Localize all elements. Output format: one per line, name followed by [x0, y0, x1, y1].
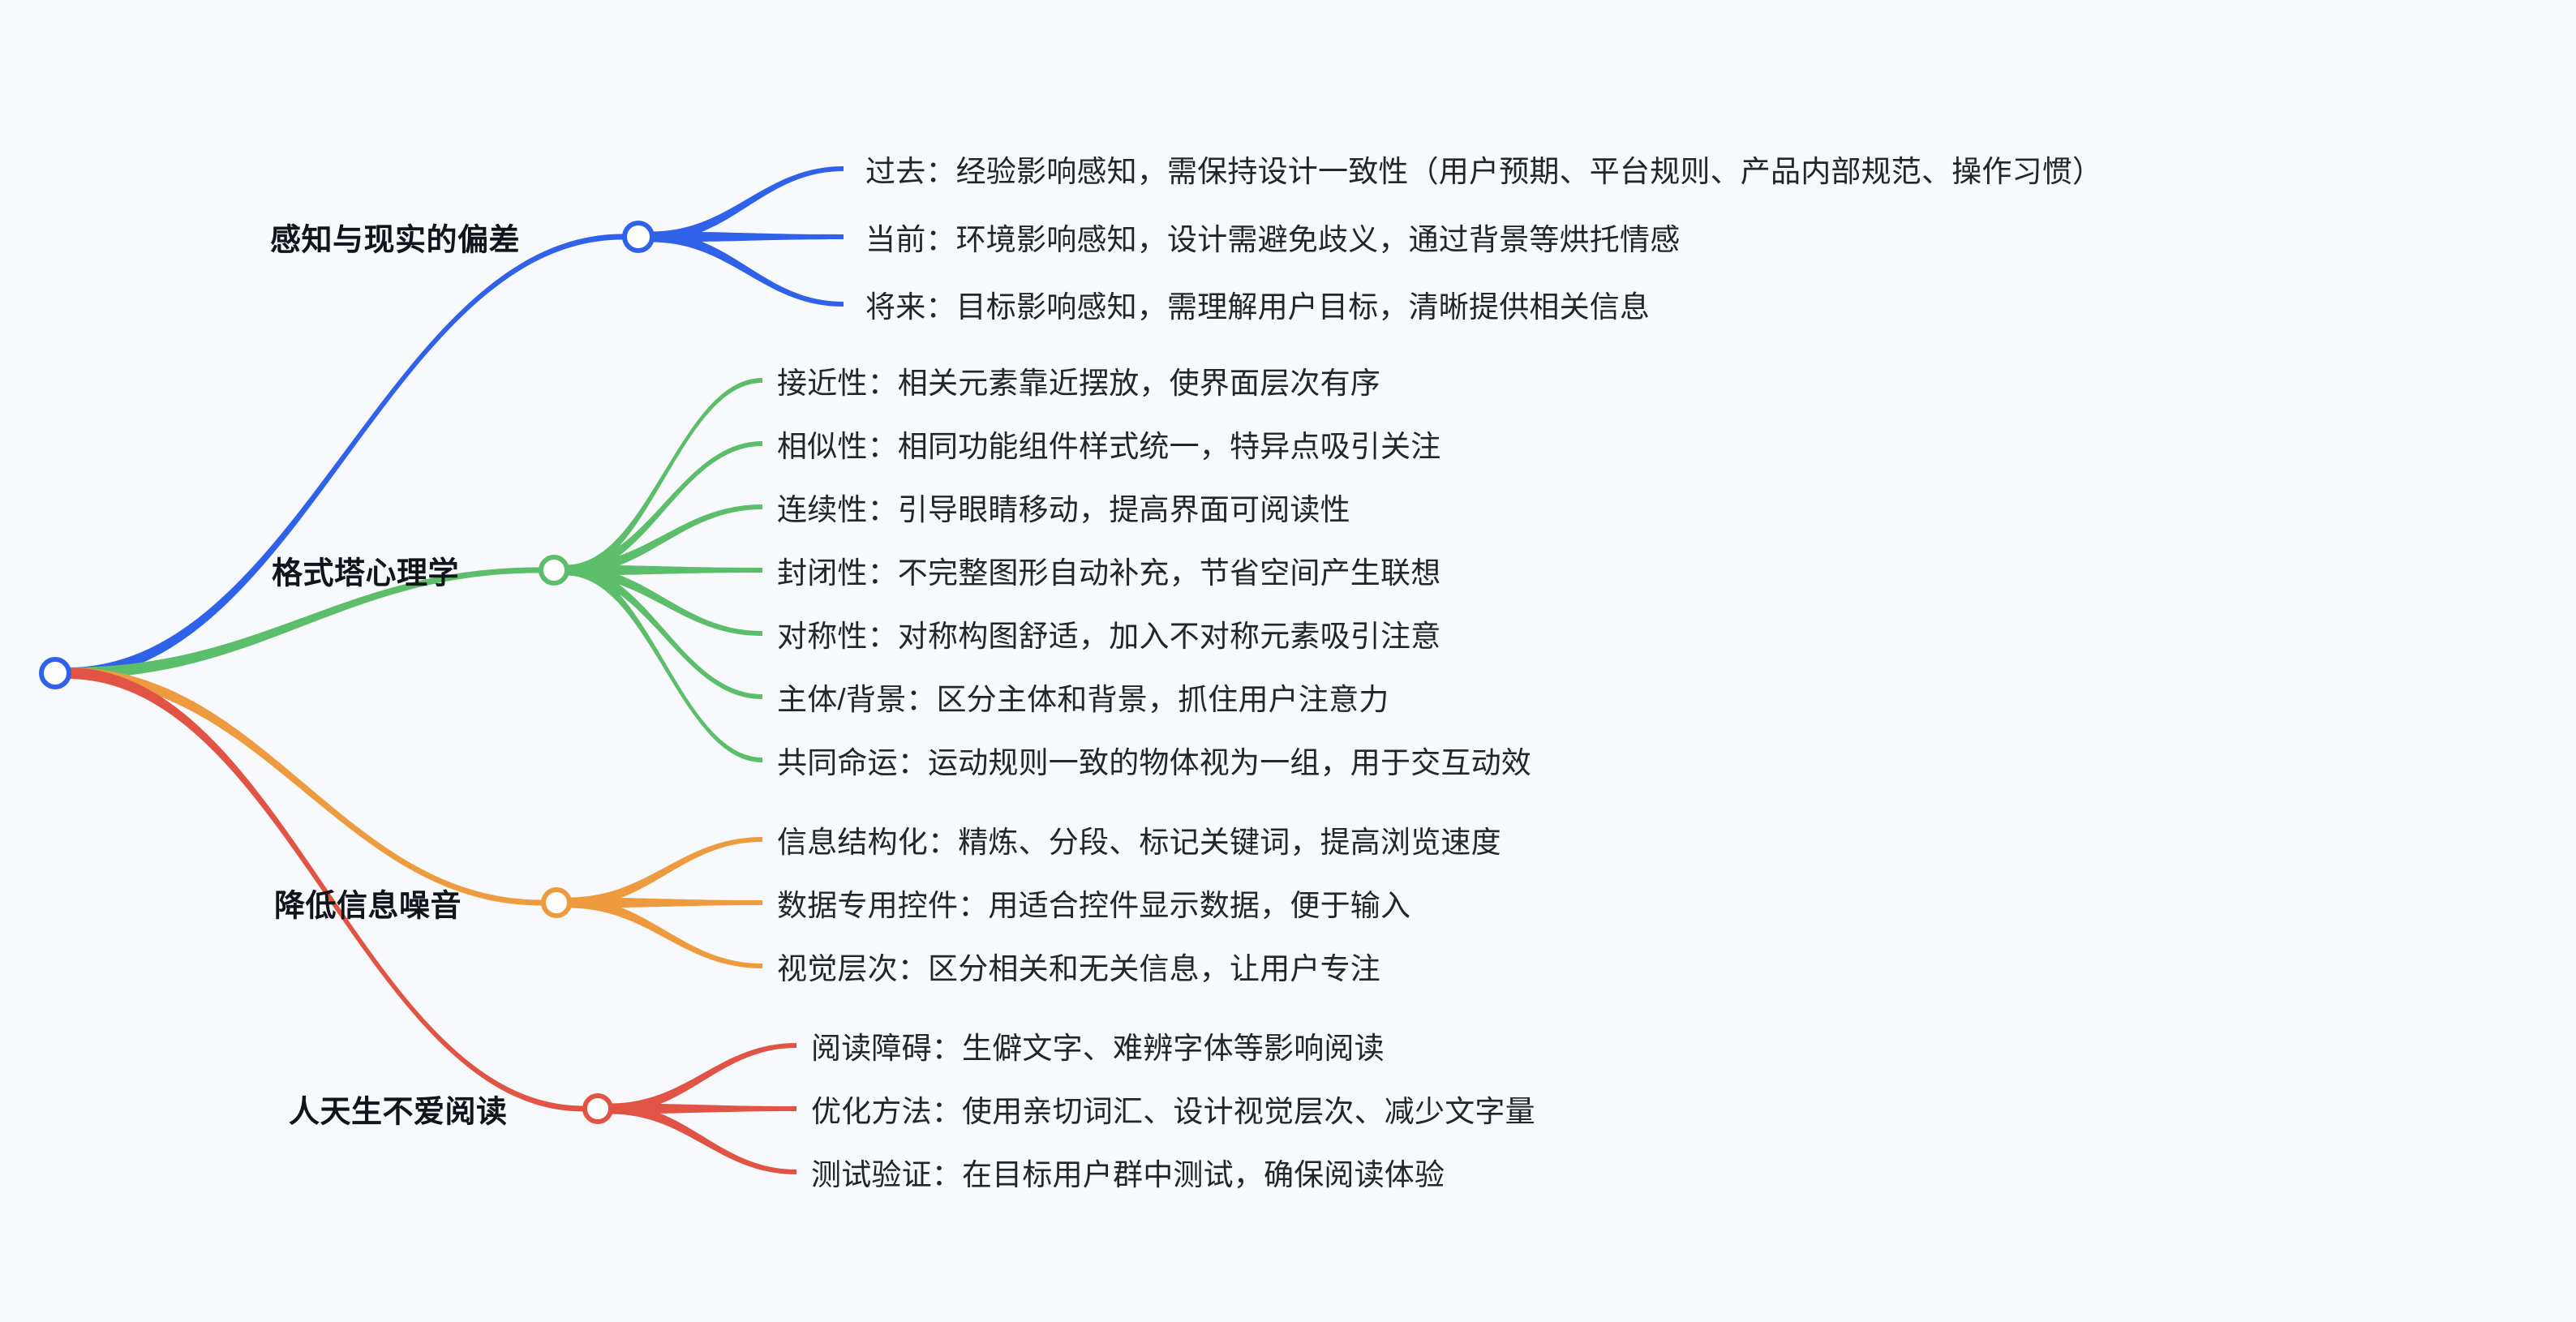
leaf-label-common-fate[interactable]: 共同命运：运动规则一致的物体视为一组，用于交互动效	[777, 738, 1531, 782]
branch-label-people-dislike-reading[interactable]: 人天生不爱阅读	[289, 1087, 508, 1131]
leaf-label-symmetry[interactable]: 对称性：对称构图舒适，加入不对称元素吸引注意	[777, 612, 1440, 655]
leaf-connector-past	[651, 166, 844, 243]
leaf-connector-proximity	[566, 378, 762, 576]
leaf-connector-structured-information	[569, 837, 762, 908]
leaf-connector-continuity	[566, 504, 762, 576]
leaf-label-data-specific-controls[interactable]: 数据专用控件：用适合控件显示数据，便于输入	[777, 881, 1410, 925]
branch-node-people-dislike-reading[interactable]	[585, 1096, 611, 1122]
leaf-connector-reading-obstacles	[610, 1043, 796, 1114]
branch-label-gestalt-psychology[interactable]: 格式塔心理学	[272, 548, 459, 593]
leaf-connector-common-fate	[566, 565, 762, 763]
branch-connector-reduce-information-noise	[67, 667, 542, 906]
leaf-label-present[interactable]: 当前：环境影响感知，设计需避免歧义，通过背景等烘托情感	[865, 215, 1680, 259]
branch-group-perception-reality-gap	[67, 234, 623, 680]
leaf-label-similarity[interactable]: 相似性：相同功能组件样式统一，特异点吸引关注	[777, 422, 1440, 466]
leaf-label-test-validation[interactable]: 测试验证：在目标用户群中测试，确保阅读体验	[811, 1150, 1445, 1194]
branch-group-reduce-information-noise	[67, 667, 542, 906]
leaf-label-proximity[interactable]: 接近性：相关元素靠近摆放，使界面层次有序	[777, 358, 1380, 402]
branch-node-reduce-information-noise[interactable]	[543, 890, 569, 916]
branch-label-reduce-information-noise[interactable]: 降低信息噪音	[274, 881, 462, 925]
leaf-connector-visual-hierarchy	[569, 898, 762, 969]
branch-connector-perception-reality-gap	[67, 234, 623, 680]
leaf-label-visual-hierarchy[interactable]: 视觉层次：区分相关和无关信息，让用户专注	[777, 944, 1380, 988]
branch-node-gestalt-psychology[interactable]	[541, 557, 567, 583]
mindmap-canvas: 感知与现实的偏差过去：经验影响感知，需保持设计一致性（用户预期、平台规则、产品内…	[0, 0, 2576, 1322]
leaf-label-future[interactable]: 将来：目标影响感知，需理解用户目标，清晰提供相关信息	[865, 282, 1650, 326]
leaf-label-reading-obstacles[interactable]: 阅读障碍：生僻文字、难辨字体等影响阅读	[811, 1024, 1385, 1067]
leaf-label-closure[interactable]: 封闭性：不完整图形自动补充，节省空间产生联想	[777, 548, 1440, 592]
leaf-label-past[interactable]: 过去：经验影响感知，需保持设计一致性（用户预期、平台规则、产品内部规范、操作习惯…	[865, 147, 2102, 191]
leaf-label-continuity[interactable]: 连续性：引导眼睛移动，提高界面可阅读性	[777, 485, 1350, 529]
branch-label-perception-reality-gap[interactable]: 感知与现实的偏差	[270, 215, 520, 260]
root-node[interactable]	[41, 659, 69, 687]
leaf-connector-future	[651, 232, 844, 307]
leaf-label-figure-ground[interactable]: 主体/背景：区分主体和背景，抓住用户注意力	[777, 675, 1389, 719]
leaf-connector-test-validation	[610, 1104, 796, 1175]
branch-node-perception-reality-gap[interactable]	[625, 223, 652, 251]
leaf-label-structured-information[interactable]: 信息结构化：精炼、分段、标记关键词，提高浏览速度	[777, 818, 1501, 861]
leaf-label-optimization-methods[interactable]: 优化方法：使用亲切词汇、设计视觉层次、减少文字量	[811, 1087, 1535, 1131]
